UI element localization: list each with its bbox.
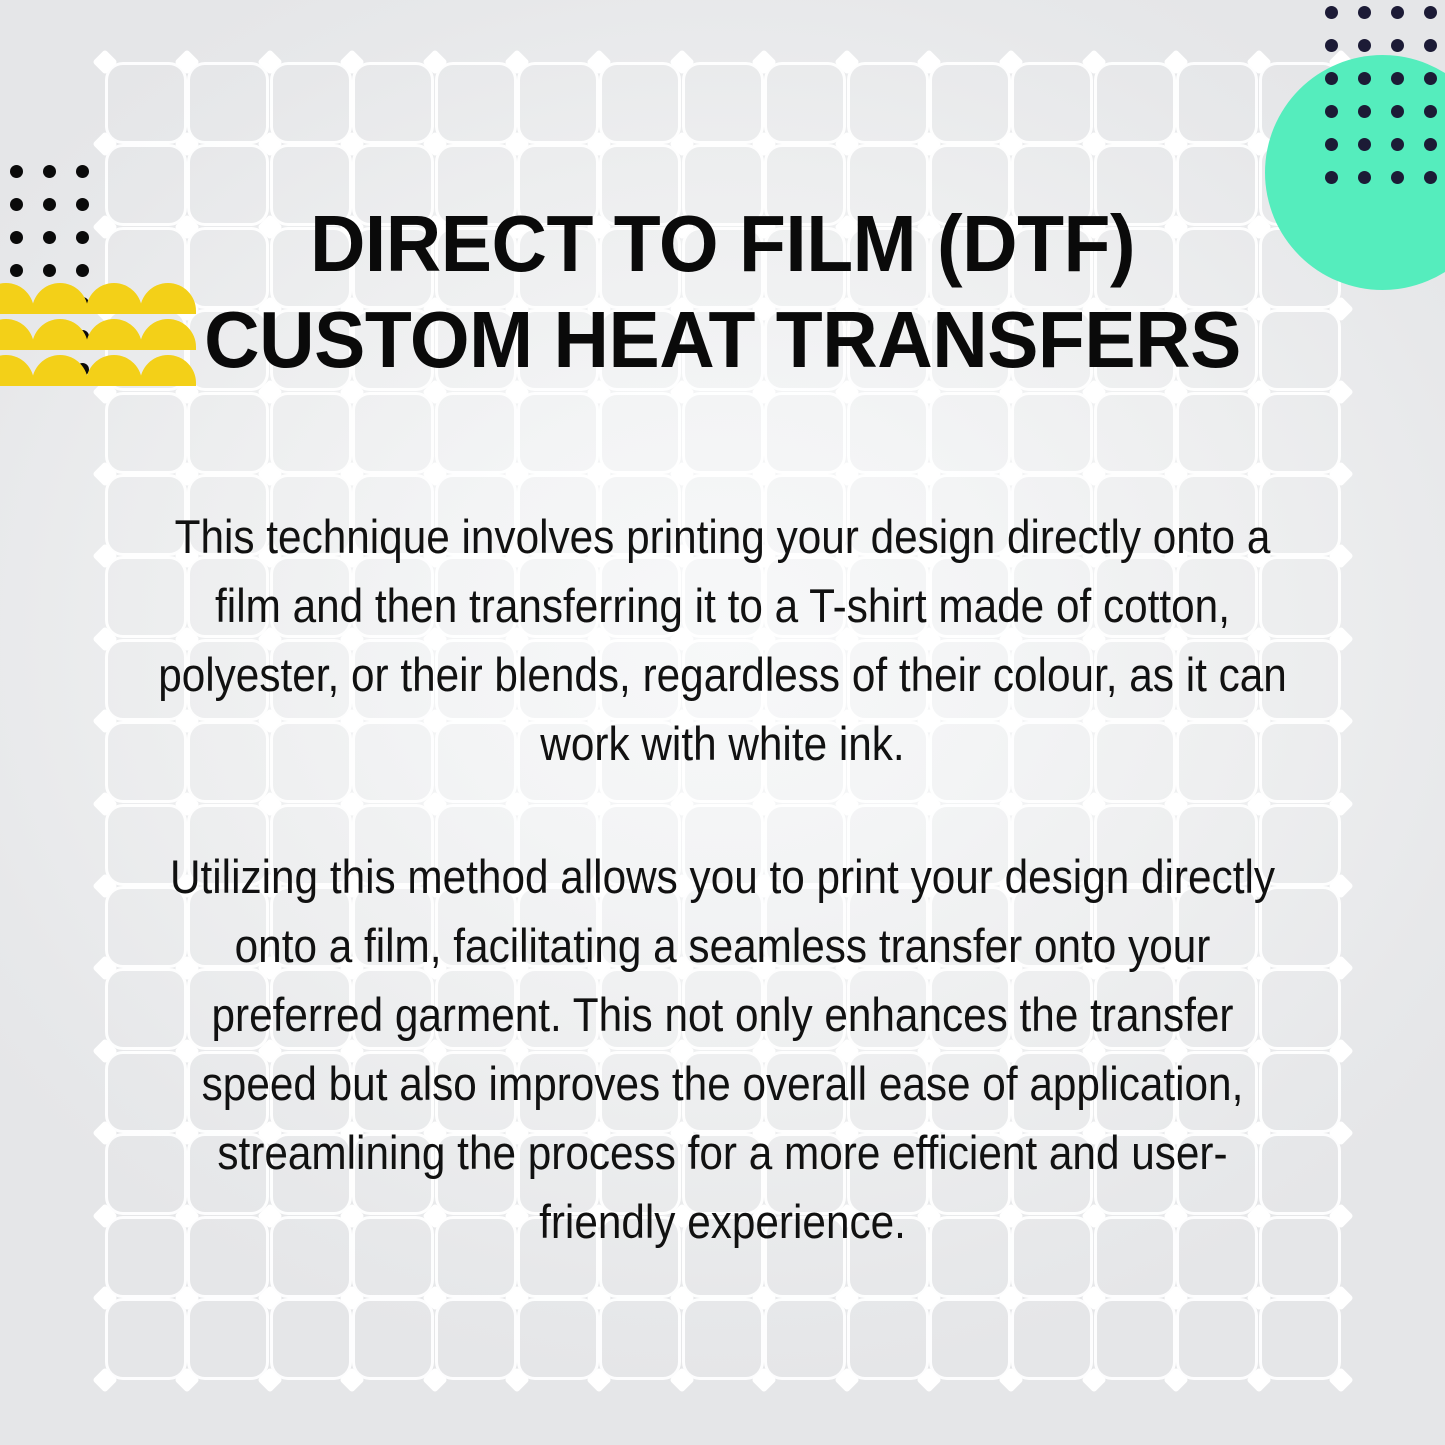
poster-canvas: DIRECT TO FILM (DTF) CUSTOM HEAT TRANSFE… <box>0 0 1445 1445</box>
poster-content: DIRECT TO FILM (DTF) CUSTOM HEAT TRANSFE… <box>0 0 1445 1445</box>
body-paragraph-1: This technique involves printing your de… <box>158 502 1288 778</box>
body-paragraph-2: Utilizing this method allows you to prin… <box>158 842 1288 1256</box>
page-title: DIRECT TO FILM (DTF) CUSTOM HEAT TRANSFE… <box>144 196 1301 388</box>
